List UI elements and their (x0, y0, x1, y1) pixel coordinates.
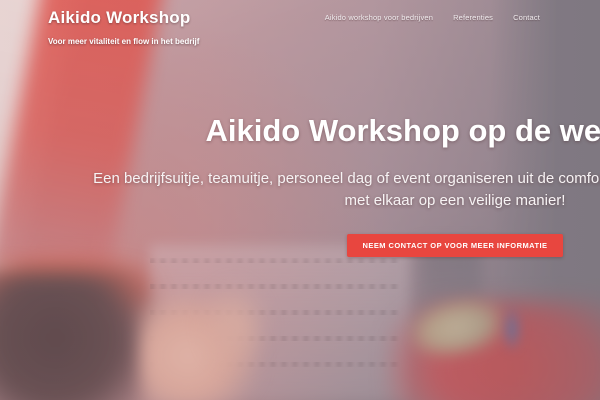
hero-cta-wrapper: Neem contact op voor meer informatie (347, 234, 564, 257)
hero-subtitle: Een bedrijfsuitje, teamuitje, personeel … (85, 168, 600, 212)
main-navigation: Aikido workshop voor bedrijven Referenti… (325, 8, 600, 23)
nav-item-contact[interactable]: Contact (513, 13, 540, 23)
nav-item-aikido-workshop-voor-bedrijven[interactable]: Aikido workshop voor bedrijven (325, 13, 433, 23)
hero-title: Aikido Workshop op de werkvloer (206, 112, 600, 150)
nav-item-referenties[interactable]: Referenties (453, 13, 493, 23)
site-tagline: Voor meer vitaliteit en flow in het bedr… (48, 36, 199, 47)
site-header: Aikido Workshop Voor meer vitaliteit en … (0, 0, 600, 46)
hero-section: Aikido Workshop op de werkvloer Een bedr… (0, 0, 600, 400)
site-title[interactable]: Aikido Workshop (48, 8, 199, 28)
page-root: Aikido Workshop Voor meer vitaliteit en … (0, 0, 600, 400)
contact-cta-button[interactable]: Neem contact op voor meer informatie (347, 234, 564, 257)
brand[interactable]: Aikido Workshop Voor meer vitaliteit en … (0, 8, 199, 47)
